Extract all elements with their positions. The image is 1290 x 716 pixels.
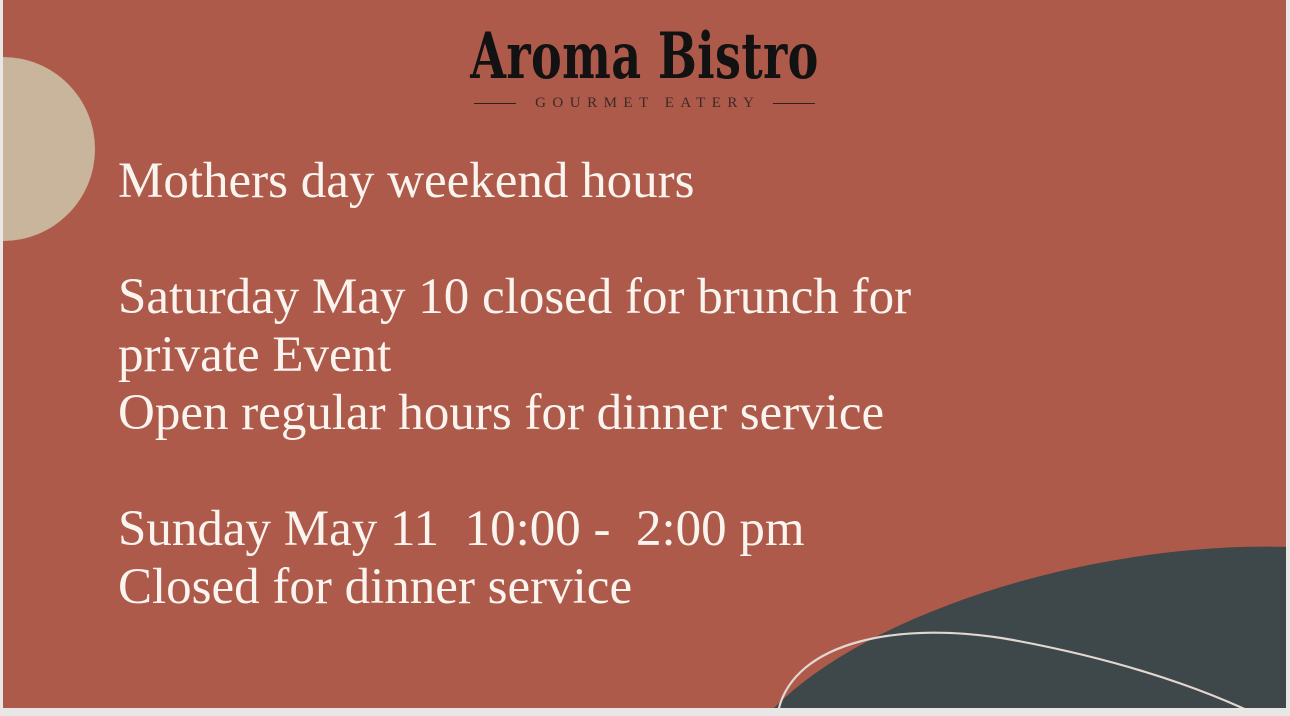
- brand-subtitle: GOURMET EATERY: [529, 95, 761, 112]
- brand-wordmark: Aroma Bistro: [183, 27, 1107, 88]
- saturday-line-1: Saturday May 10 closed for brunch for: [118, 268, 1178, 326]
- slide-canvas: Aroma Bistro GOURMET EATERY Mothers day …: [3, 0, 1286, 708]
- blank-line-1: [118, 210, 1178, 268]
- brand-subtitle-row: GOURMET EATERY: [3, 95, 1286, 112]
- blank-line-2: [118, 442, 1178, 500]
- logo-rule-right-icon: [773, 103, 815, 105]
- heading-mothers-day-hours: Mothers day weekend hours: [118, 152, 1178, 210]
- saturday-line-3: Open regular hours for dinner service: [118, 384, 1178, 442]
- sunday-line-2: Closed for dinner service: [118, 558, 1178, 616]
- saturday-line-2: private Event: [118, 326, 1178, 384]
- sunday-line-1: Sunday May 11 10:00 - 2:00 pm: [118, 500, 1178, 558]
- brand-logo: Aroma Bistro GOURMET EATERY: [3, 27, 1286, 112]
- slide-body-copy: Mothers day weekend hours Saturday May 1…: [118, 152, 1178, 616]
- logo-rule-left-icon: [474, 103, 516, 105]
- slide-root: Aroma Bistro GOURMET EATERY Mothers day …: [0, 0, 1290, 716]
